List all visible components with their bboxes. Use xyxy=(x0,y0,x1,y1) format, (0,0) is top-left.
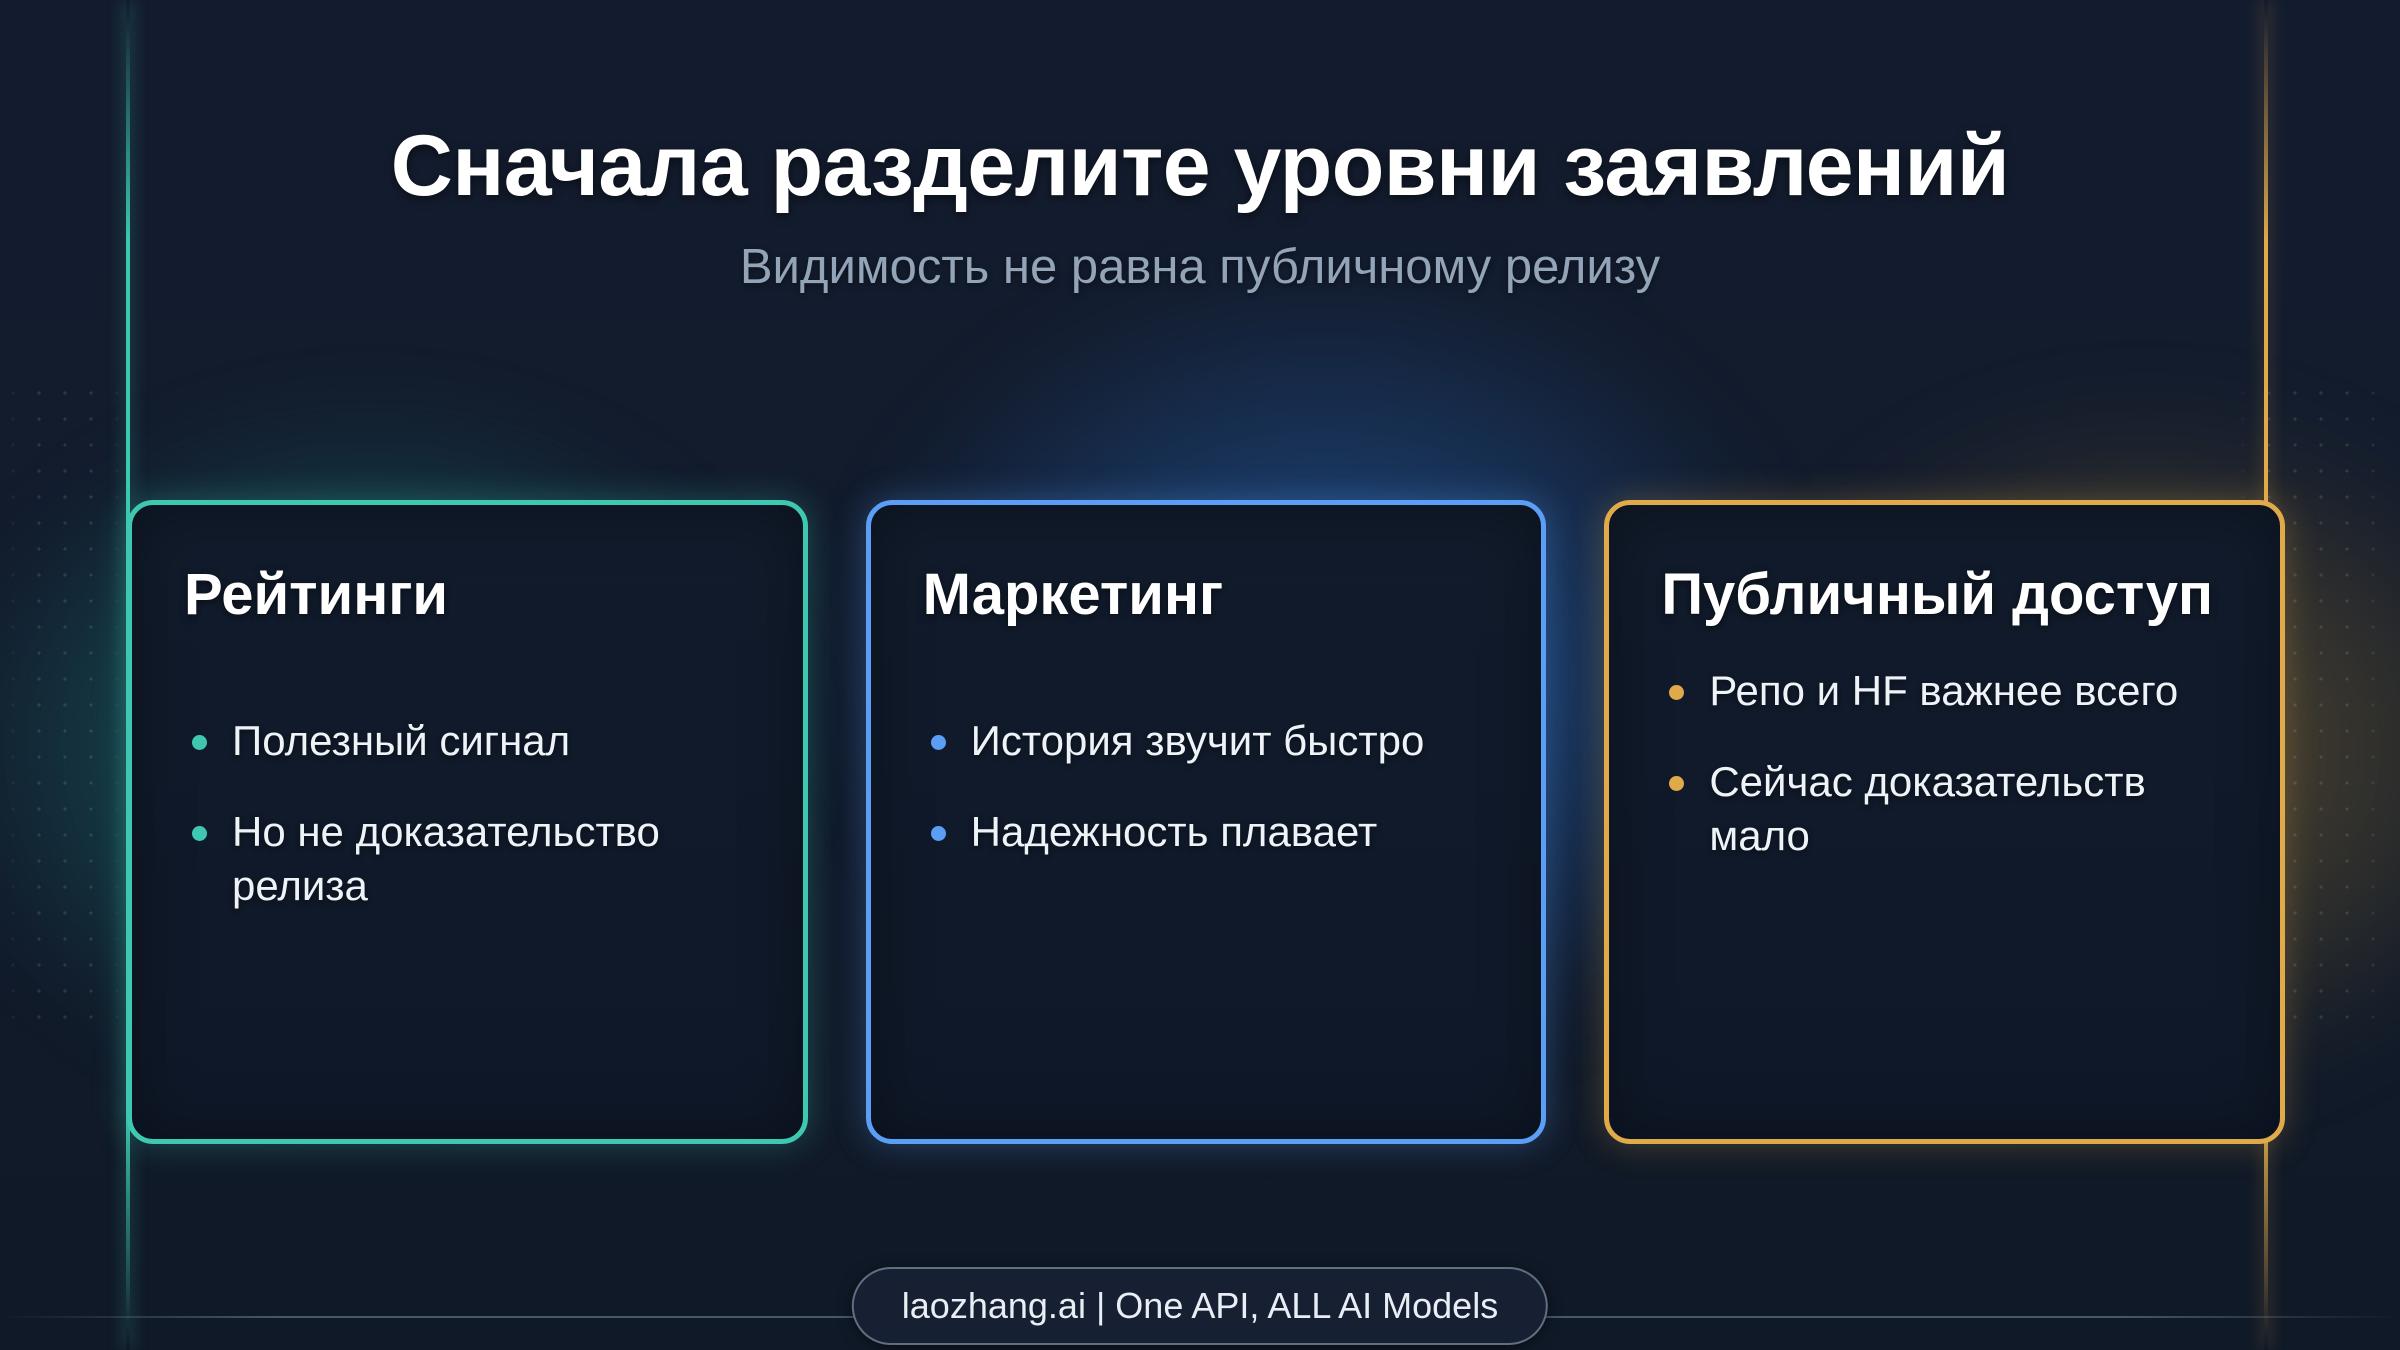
slide-canvas: Сначала разделите уровни заявлений Видим… xyxy=(0,0,2400,1350)
list-item: Надежность плавает xyxy=(923,805,1490,860)
list-item-label: Полезный сигнал xyxy=(232,717,570,764)
bullet-dot-icon xyxy=(192,826,207,841)
card-marketing[interactable]: Маркетинг История звучит быстро Надежнос… xyxy=(866,500,1547,1144)
page-title: Сначала разделите уровни заявлений xyxy=(0,120,2400,213)
list-item-label: Сейчас доказательств мало xyxy=(1709,758,2145,860)
list-item: Сейчас доказательств мало xyxy=(1661,755,2228,864)
card-public-access[interactable]: Публичный доступ Репо и HF важнее всего … xyxy=(1604,500,2285,1144)
list-item-label: Репо и HF важнее всего xyxy=(1709,667,2178,714)
page-subtitle: Видимость не равна публичному релизу xyxy=(0,239,2400,295)
dot-texture-left xyxy=(0,380,130,1040)
slide-header: Сначала разделите уровни заявлений Видим… xyxy=(0,120,2400,295)
list-item-label: История звучит быстро xyxy=(971,717,1425,764)
card-bullet-list: История звучит быстро Надежность плавает xyxy=(923,628,1490,1099)
bullet-dot-icon xyxy=(1669,776,1684,791)
list-item: История звучит быстро xyxy=(923,714,1490,769)
card-title: Маркетинг xyxy=(923,563,1490,628)
list-item: Но не доказательство релиза xyxy=(184,805,751,914)
list-item-label: Но не доказательство релиза xyxy=(232,808,660,910)
card-bullet-list: Репо и HF важнее всего Сейчас доказатель… xyxy=(1661,628,2228,1099)
card-bullet-list: Полезный сигнал Но не доказательство рел… xyxy=(184,628,751,1099)
card-title: Публичный доступ xyxy=(1661,563,2228,628)
list-item: Репо и HF важнее всего xyxy=(1661,664,2228,719)
bullet-dot-icon xyxy=(931,826,946,841)
card-title: Рейтинги xyxy=(184,563,751,628)
bullet-dot-icon xyxy=(931,735,946,750)
list-item-label: Надежность плавает xyxy=(971,808,1378,855)
footer-brand-badge[interactable]: laozhang.ai | One API, ALL AI Models xyxy=(852,1267,1548,1345)
bullet-dot-icon xyxy=(192,735,207,750)
bullet-dot-icon xyxy=(1669,685,1684,700)
card-ratings[interactable]: Рейтинги Полезный сигнал Но не доказател… xyxy=(127,500,808,1144)
card-row: Рейтинги Полезный сигнал Но не доказател… xyxy=(127,500,2285,1144)
list-item: Полезный сигнал xyxy=(184,714,751,769)
